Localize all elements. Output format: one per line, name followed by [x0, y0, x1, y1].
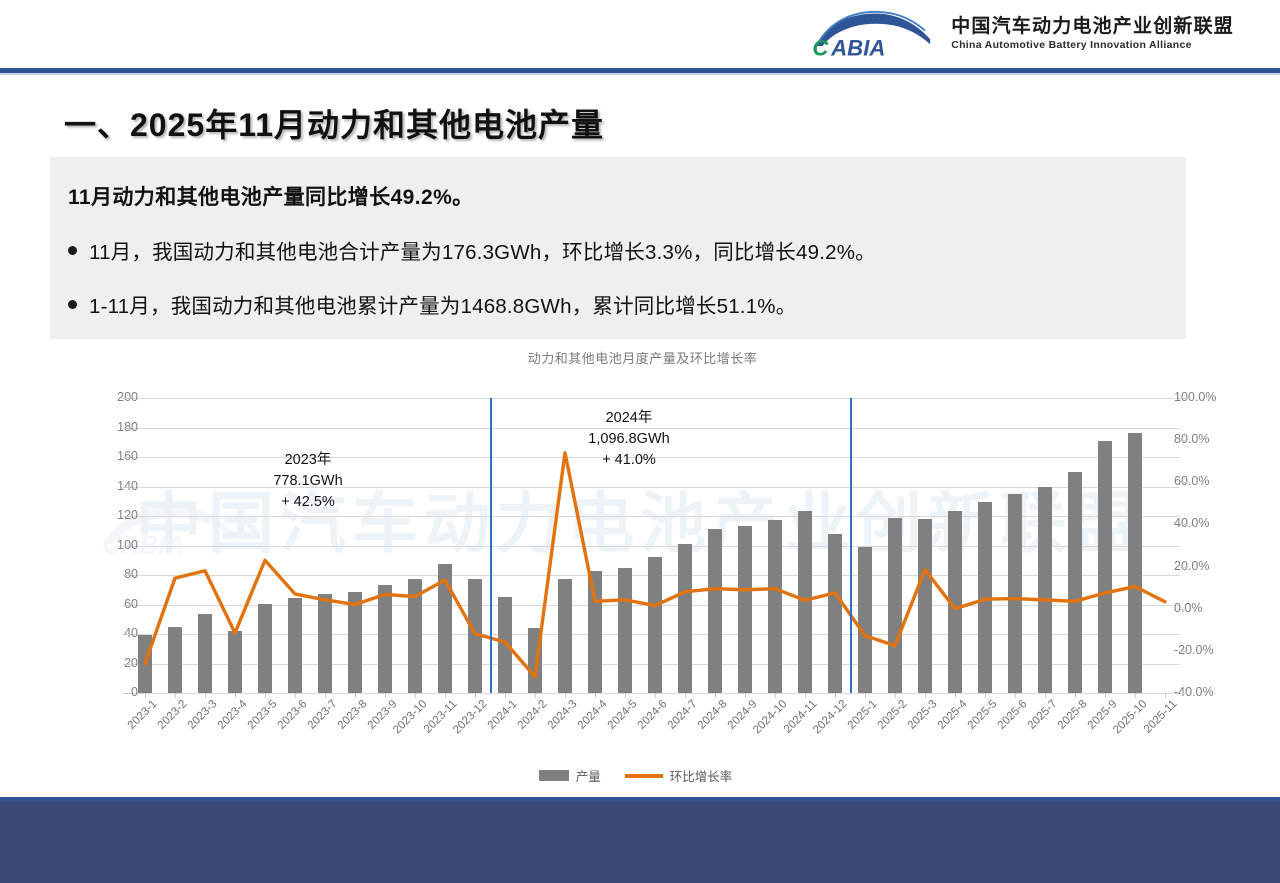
y-axis-right-tick: 0.0%	[1174, 601, 1254, 615]
year-2024-summary-line: 1,096.8GWh	[549, 429, 709, 450]
y-axis-right-tickmark	[1180, 609, 1187, 610]
year-2023-summary-line: 2023年	[228, 450, 388, 471]
y-axis-right-tickmark	[1180, 398, 1187, 399]
cabia-logo-icon: C ABIA	[809, 8, 937, 60]
brand-logo: C ABIA 中国汽车动力电池产业创新联盟 China Automotive B…	[809, 8, 1234, 60]
summary-bullet-1: 11月，我国动力和其他电池合计产量为176.3GWh，环比增长3.3%，同比增长…	[68, 235, 876, 265]
y-axis-left-tick: 100	[78, 538, 138, 552]
y-axis-right-tickmark	[1180, 524, 1187, 525]
legend-line-swatch-icon	[625, 774, 663, 778]
y-axis-left-tickmark	[123, 546, 130, 547]
org-name-cn: 中国汽车动力电池产业创新联盟	[951, 17, 1234, 36]
y-axis-left-tickmark	[123, 664, 130, 665]
y-axis-left-tickmark	[123, 634, 130, 635]
y-axis-left-tickmark	[123, 428, 130, 429]
year-2024-summary-line: + 41.0%	[549, 450, 709, 471]
year-2023-summary: 2023年778.1GWh+ 42.5%	[228, 450, 388, 513]
y-axis-right-tick: -40.0%	[1174, 685, 1254, 699]
y-axis-left-tick: 40	[78, 626, 138, 640]
page-footer	[0, 801, 1280, 883]
year-divider	[850, 398, 852, 693]
year-2024-summary-line: 2024年	[549, 408, 709, 429]
year-divider	[490, 398, 492, 693]
y-axis-right-tick: 80.0%	[1174, 432, 1254, 446]
y-axis-right-tickmark	[1180, 482, 1187, 483]
svg-text:C: C	[813, 35, 830, 60]
y-axis-left-tick: 160	[78, 449, 138, 463]
chart-title: 动力和其他电池月度产量及环比增长率	[50, 348, 1235, 367]
bullet-dot-icon	[68, 246, 77, 255]
y-axis-left-tick: 200	[78, 390, 138, 404]
chart-plot-area: 020406080100120140160180200-40.0%-20.0%0…	[130, 398, 1180, 693]
y-axis-right-tick: 40.0%	[1174, 516, 1254, 530]
y-axis-left-tick: 0	[78, 685, 138, 699]
y-axis-left-tick: 80	[78, 567, 138, 581]
year-2023-summary-line: 778.1GWh	[228, 471, 388, 492]
chart-legend-label: 产量	[576, 766, 601, 785]
legend-bar-swatch-icon	[539, 770, 569, 781]
chart-legend: 产量环比增长率	[50, 766, 1235, 785]
y-axis-right-tick: -20.0%	[1174, 643, 1254, 657]
y-axis-right-tickmark	[1180, 693, 1187, 694]
chart-legend-label: 环比增长率	[670, 766, 733, 785]
page-header: C ABIA 中国汽车动力电池产业创新联盟 China Automotive B…	[0, 0, 1280, 68]
chart-legend-item[interactable]: 产量	[539, 766, 601, 785]
production-chart: 动力和其他电池月度产量及环比增长率 0204060801001201401601…	[50, 348, 1235, 798]
summary-bullet-1-text: 11月，我国动力和其他电池合计产量为176.3GWh，环比增长3.3%，同比增长…	[89, 235, 876, 265]
summary-bullet-2: 1-11月，我国动力和其他电池累计产量为1468.8GWh，累计同比增长51.1…	[68, 289, 796, 319]
y-axis-left-tickmark	[123, 516, 130, 517]
y-axis-left-tick: 180	[78, 420, 138, 434]
page-title: 一、2025年11月动力和其他电池产量	[64, 100, 604, 146]
y-axis-left-tickmark	[123, 457, 130, 458]
header-divider-light	[0, 73, 1280, 75]
y-axis-left-tick: 20	[78, 656, 138, 670]
y-axis-right-tick: 20.0%	[1174, 559, 1254, 573]
svg-text:ABIA: ABIA	[830, 35, 885, 60]
year-2023-summary-line: + 42.5%	[228, 492, 388, 513]
y-axis-left-tickmark	[123, 398, 130, 399]
y-axis-left-tickmark	[123, 575, 130, 576]
summary-panel: 11月动力和其他电池产量同比增长49.2%。 11月，我国动力和其他电池合计产量…	[50, 157, 1186, 339]
y-axis-left-tick: 140	[78, 479, 138, 493]
y-axis-left-tickmark	[123, 487, 130, 488]
y-axis-right-tick: 100.0%	[1174, 390, 1254, 404]
y-axis-right-tickmark	[1180, 651, 1187, 652]
summary-headline: 11月动力和其他电池产量同比增长49.2%。	[68, 181, 474, 211]
y-axis-left-tick: 120	[78, 508, 138, 522]
y-axis-left-tickmark	[123, 693, 130, 694]
summary-bullet-2-text: 1-11月，我国动力和其他电池累计产量为1468.8GWh，累计同比增长51.1…	[89, 289, 796, 319]
chart-legend-item[interactable]: 环比增长率	[625, 766, 733, 785]
y-axis-right-tick: 60.0%	[1174, 474, 1254, 488]
bullet-dot-icon	[68, 300, 77, 309]
y-axis-right-tickmark	[1180, 440, 1187, 441]
y-axis-left-tickmark	[123, 605, 130, 606]
org-name-en: China Automotive Battery Innovation Alli…	[951, 40, 1234, 51]
year-2024-summary: 2024年1,096.8GWh+ 41.0%	[549, 408, 709, 471]
y-axis-right-tickmark	[1180, 567, 1187, 568]
y-axis-left-tick: 60	[78, 597, 138, 611]
